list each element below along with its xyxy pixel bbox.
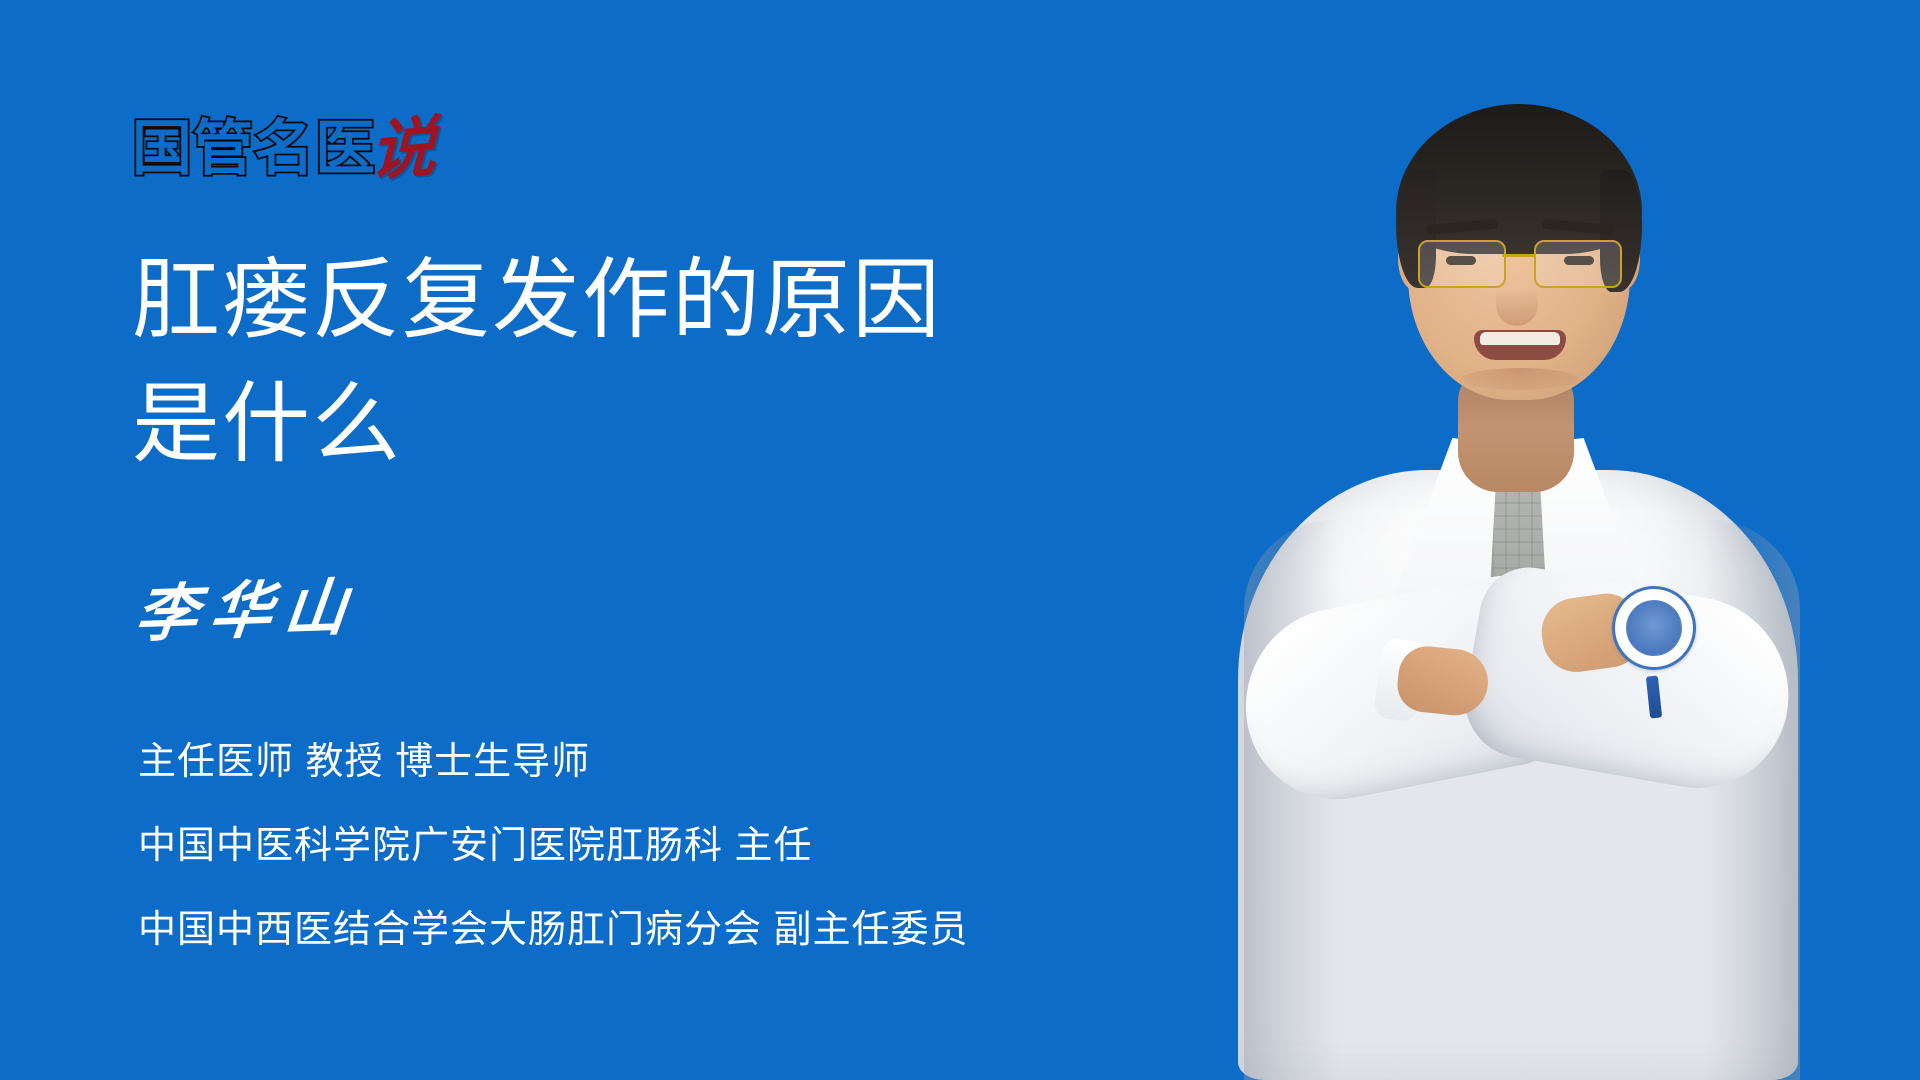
promo-card: 国管名医 说 肛瘘反复发作的原因 是什么 李华山 主任医师 教授 博士生导师 中… [0,0,1920,1080]
credential-line-2: 中国中医科学院广安门医院肛肠科 主任 [138,804,1258,888]
doctor-credentials: 主任医师 教授 博士生导师 中国中医科学院广安门医院肛肠科 主任 中国中西医结合… [138,720,1258,972]
eyeglass-lens-right [1534,240,1622,288]
hospital-badge-emblem [1623,597,1685,659]
mouth [1474,330,1566,360]
brand-logo: 国管名医 说 [132,112,436,186]
coat-shadow-left [1244,520,1364,1080]
credential-line-1: 主任医师 教授 博士生导师 [138,720,1258,804]
teeth [1480,332,1560,345]
title-line-2: 是什么 [132,362,1132,486]
nose [1496,272,1538,326]
page-title: 肛瘘反复发作的原因 是什么 [132,238,1132,486]
title-line-1: 肛瘘反复发作的原因 [132,238,1132,362]
eyeglass-bridge [1502,254,1536,257]
credential-line-3: 中国中西医结合学会大肠肛门病分会 副主任委员 [138,888,1258,972]
brand-logo-outline-text: 国管名医 [132,118,376,180]
doctor-portrait [1140,0,1920,1080]
chin-shadow [1462,368,1578,390]
eyeglass-lens-left [1418,240,1506,288]
doctor-name: 李华山 [132,574,362,648]
brand-logo-script-text: 说 [369,115,436,183]
